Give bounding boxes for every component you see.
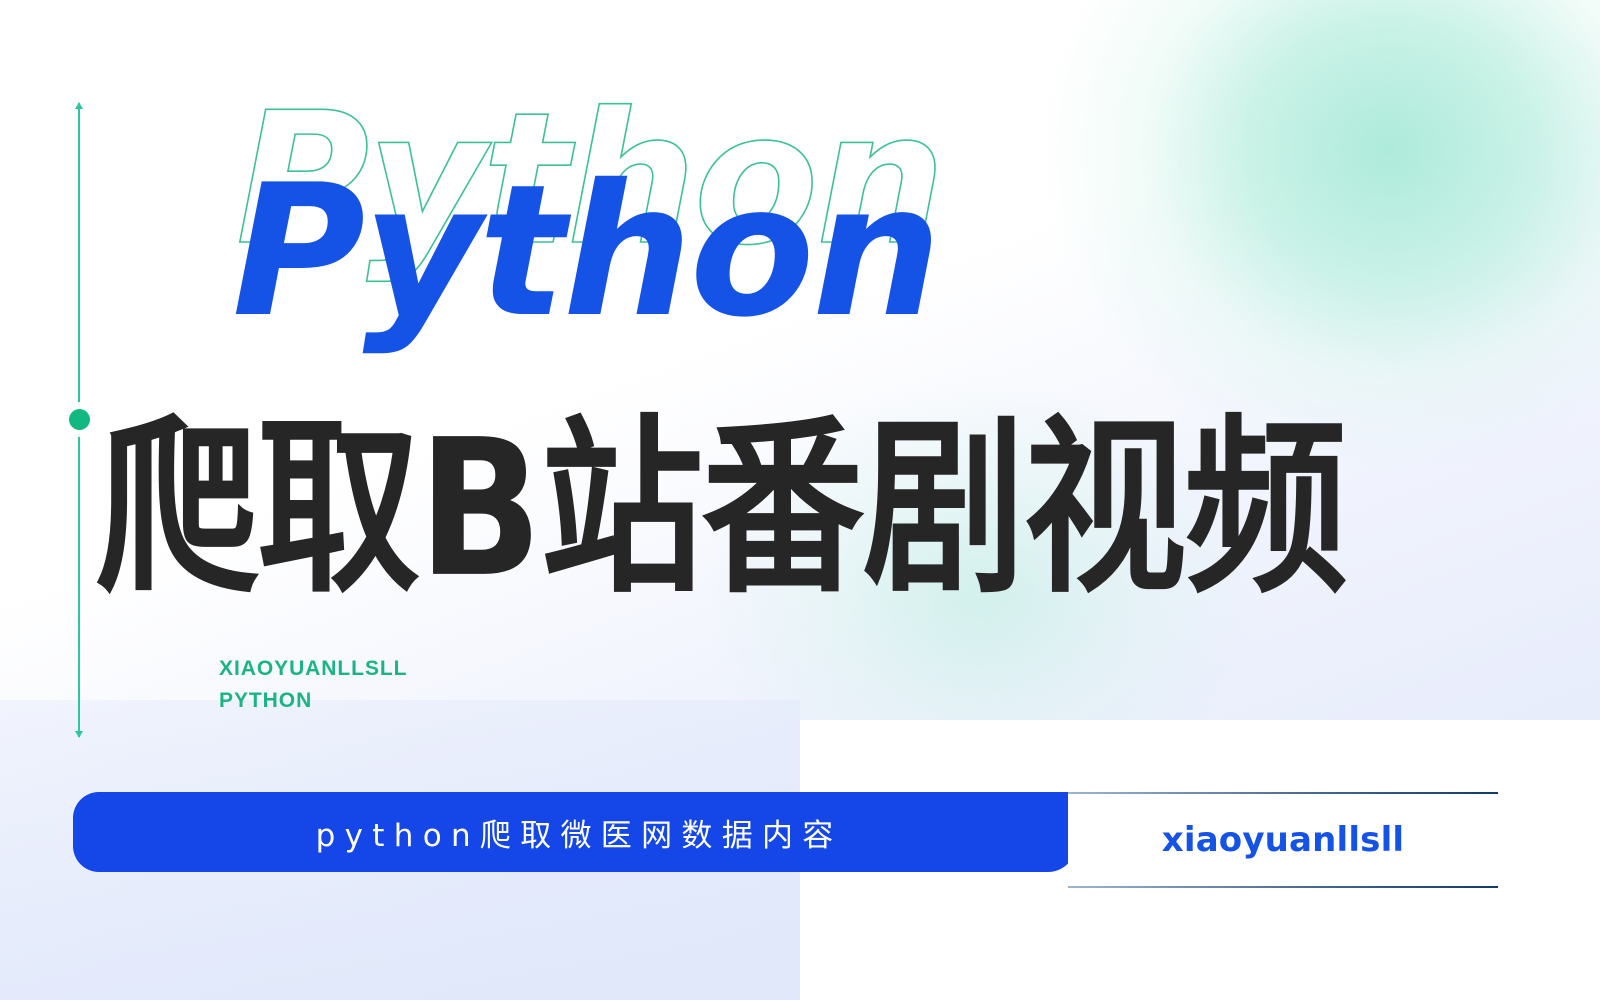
headline-title: 爬取B站番剧视频 <box>96 415 1536 604</box>
python-wordmark-solid: Python <box>232 160 939 342</box>
arrow-up-icon <box>75 102 83 109</box>
arrow-down-icon <box>75 731 83 738</box>
poster-canvas: Python Python 爬取B站番剧视频 XIAOYUANLLSLL PYT… <box>0 0 1600 1000</box>
kicker-line-2: PYTHON <box>219 685 407 717</box>
primary-label-bar[interactable]: python爬取微医网数据内容 <box>73 792 1076 872</box>
vertical-guide-line <box>78 103 80 737</box>
primary-label-text: python爬取微医网数据内容 <box>306 810 842 855</box>
kicker-line-1: XIAOYUANLLSLL <box>219 653 407 685</box>
guide-dot-marker <box>69 409 90 430</box>
author-label-text: xiaoyuanllsll <box>1162 820 1404 860</box>
kicker-block: XIAOYUANLLSLL PYTHON <box>219 653 407 717</box>
author-bar[interactable]: xiaoyuanllsll <box>1068 792 1498 888</box>
